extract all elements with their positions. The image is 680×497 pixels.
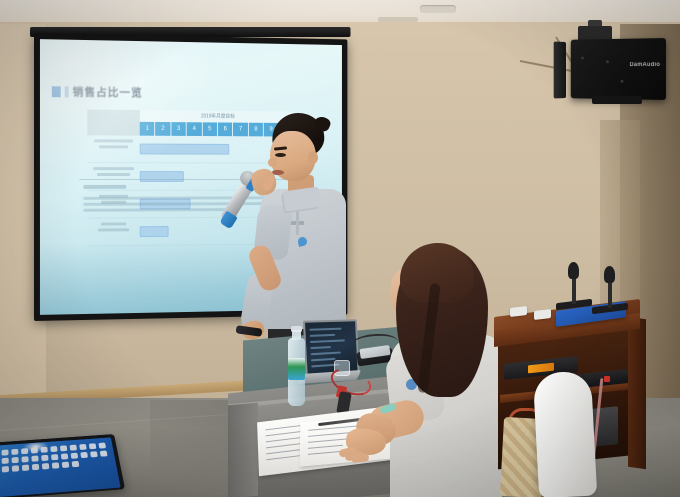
speaker-bottom-edge <box>592 96 642 104</box>
speaker-brand-label: DamAudio <box>630 62 661 68</box>
speaker-side-panel <box>554 42 566 99</box>
speaker-screw <box>581 57 584 60</box>
conference-room-photo: DamAudio 销售占比一览 2019年月度目标 1 2 <box>0 0 680 497</box>
av-rack-power-led <box>604 376 610 382</box>
tablet-screen[interactable] <box>0 437 121 497</box>
presenter-ear <box>308 151 318 164</box>
slide-note-heading <box>83 185 126 189</box>
screen-glare <box>40 39 224 177</box>
bottle-label <box>288 358 305 380</box>
stand-microphone-icon[interactable] <box>568 262 579 279</box>
wall-speaker: DamAudio <box>571 38 666 100</box>
desk-left-side <box>228 403 258 497</box>
white-chair[interactable] <box>533 371 597 497</box>
slide-table-bar <box>140 226 169 237</box>
stand-microphone-icon[interactable] <box>604 266 615 283</box>
speaker-screw <box>621 80 624 83</box>
slide-table-row-label <box>89 222 138 234</box>
tablet-device[interactable] <box>0 434 125 497</box>
av-cabinet-side <box>628 317 646 470</box>
seated-woman <box>378 243 508 497</box>
ceiling-vent <box>420 5 456 13</box>
presenter-eye <box>275 153 286 157</box>
tablet-screen-glare <box>23 440 49 453</box>
tablet-app-icons[interactable] <box>2 442 115 472</box>
speaker-screw <box>606 60 609 63</box>
